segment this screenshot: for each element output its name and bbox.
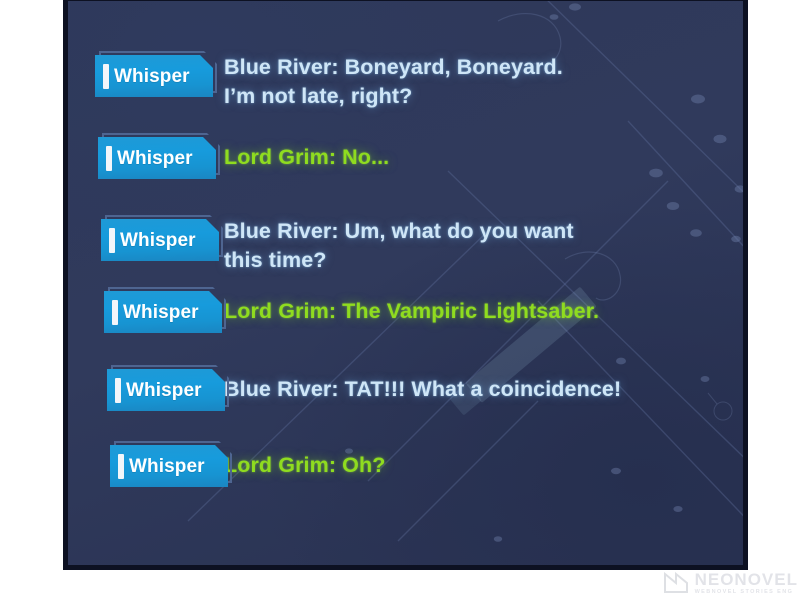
whisper-bar-icon <box>103 64 109 89</box>
whisper-badge-fill: Whisper <box>95 55 213 97</box>
chat-row[interactable]: Whisper Lord Grim: The Vampiric Lightsab… <box>104 291 599 335</box>
whisper-badge-label: Whisper <box>120 231 196 250</box>
whisper-chat-list: Whisper Blue River: Boneyard, Boneyard. … <box>68 1 743 565</box>
neonovel-logo-icon <box>663 570 689 596</box>
chat-message-text: Blue River: TAT!!! What a coincidence! <box>224 375 621 404</box>
chat-message-text: Blue River: Um, what do you want this ti… <box>224 217 574 274</box>
watermark: NEONOVEL WEBNOVEL STORIES ENG <box>663 570 798 596</box>
whisper-badge[interactable]: Whisper <box>95 55 217 99</box>
whisper-bar-icon <box>112 300 118 325</box>
chat-row[interactable]: Whisper Blue River: TAT!!! What a coinci… <box>107 369 621 413</box>
chat-message-text: Lord Grim: The Vampiric Lightsaber. <box>224 297 599 326</box>
chat-row[interactable]: Whisper Lord Grim: Oh? <box>110 445 385 489</box>
whisper-badge[interactable]: Whisper <box>98 137 220 181</box>
whisper-badge-label: Whisper <box>123 303 199 322</box>
whisper-badge-label: Whisper <box>126 381 202 400</box>
whisper-badge-label: Whisper <box>129 457 205 476</box>
whisper-badge-fill: Whisper <box>104 291 222 333</box>
whisper-badge-label: Whisper <box>114 67 190 86</box>
whisper-badge-fill: Whisper <box>101 219 219 261</box>
whisper-bar-icon <box>106 146 112 171</box>
chat-message-text: Lord Grim: Oh? <box>224 451 385 480</box>
whisper-bar-icon <box>109 228 115 253</box>
chat-message-text: Blue River: Boneyard, Boneyard. I’m not … <box>224 53 563 110</box>
whisper-badge-fill: Whisper <box>98 137 216 179</box>
screenshot-stage: Whisper Blue River: Boneyard, Boneyard. … <box>0 0 800 600</box>
chat-row[interactable]: Whisper Lord Grim: No... <box>98 137 389 181</box>
chat-row[interactable]: Whisper Blue River: Um, what do you want… <box>101 219 574 274</box>
watermark-tagline: WEBNOVEL STORIES ENG <box>695 590 798 596</box>
whisper-badge[interactable]: Whisper <box>110 445 232 489</box>
watermark-name: NEONOVEL <box>695 571 798 588</box>
whisper-badge[interactable]: Whisper <box>107 369 229 413</box>
whisper-badge-label: Whisper <box>117 149 193 168</box>
chat-row[interactable]: Whisper Blue River: Boneyard, Boneyard. … <box>95 55 563 110</box>
watermark-text: NEONOVEL WEBNOVEL STORIES ENG <box>695 571 798 596</box>
whisper-badge[interactable]: Whisper <box>104 291 226 335</box>
whisper-badge[interactable]: Whisper <box>101 219 223 263</box>
whisper-bar-icon <box>115 378 121 403</box>
whisper-badge-fill: Whisper <box>110 445 228 487</box>
chat-message-text: Lord Grim: No... <box>224 143 389 172</box>
comic-panel: Whisper Blue River: Boneyard, Boneyard. … <box>63 0 748 570</box>
whisper-bar-icon <box>118 454 124 479</box>
whisper-badge-fill: Whisper <box>107 369 225 411</box>
